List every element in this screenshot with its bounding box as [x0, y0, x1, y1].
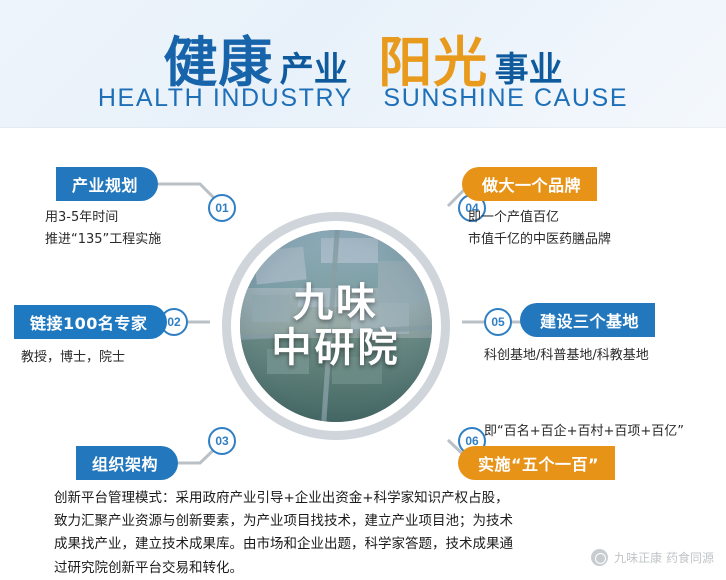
node-label-04[interactable]: 做大一个品牌	[462, 167, 597, 201]
node-desc-06-line1: 即“百名+百企+百村+百项+百亿”	[484, 422, 684, 442]
watermark-text: 九味正康 药食同源	[614, 549, 714, 566]
node-label-03[interactable]: 组织架构	[76, 446, 178, 480]
hub-title-line2: 中研院	[272, 326, 401, 371]
footnote-line-4: 过研究院创新平台交易和转化。	[54, 557, 678, 580]
node-number-05: 05	[484, 308, 512, 336]
node-label-05[interactable]: 建设三个基地	[520, 303, 655, 337]
hub-title-line1: 九味	[293, 281, 379, 326]
node-number-01: 01	[208, 194, 236, 222]
footnote-line-1: 创新平台管理模式：采用政府产业引导+企业出资金+科学家知识产权占股，	[54, 487, 678, 510]
watermark: 九味正康 药食同源	[591, 549, 714, 566]
node-desc-04-line2: 市值千亿的中医药膳品牌	[468, 230, 611, 250]
node-desc-02-line1: 教授，博士，院士	[21, 348, 125, 368]
hub-photo: 九味 中研院	[240, 230, 432, 422]
node-label-02[interactable]: 链接100名专家	[14, 305, 167, 339]
node-label-06[interactable]: 实施“五个一百”	[458, 446, 615, 480]
footnote-line-3: 成果找产业，建立技术成果库。由市场和企业出题，科学家答题，技术成果通	[54, 533, 678, 556]
footnote-line-2: 致力汇聚产业资源与创新要素，为产业项目找技术，建立产业项目池；为技术	[54, 510, 678, 533]
node-desc-05-line1: 科创基地/科普基地/科教基地	[484, 346, 649, 366]
node-desc-01-line1: 用3-5年时间	[45, 208, 118, 228]
node-number-03: 03	[208, 427, 236, 455]
circle-logo-icon	[591, 549, 608, 566]
node-label-01[interactable]: 产业规划	[56, 167, 158, 201]
node-desc-01-line2: 推进“135”工程实施	[45, 230, 161, 250]
footnote-paragraph: 创新平台管理模式：采用政府产业引导+企业出资金+科学家知识产权占股， 致力汇聚产…	[54, 487, 678, 580]
node-desc-04-line1: 即一个产值百亿	[468, 208, 559, 228]
hub-title: 九味 中研院	[240, 230, 432, 422]
